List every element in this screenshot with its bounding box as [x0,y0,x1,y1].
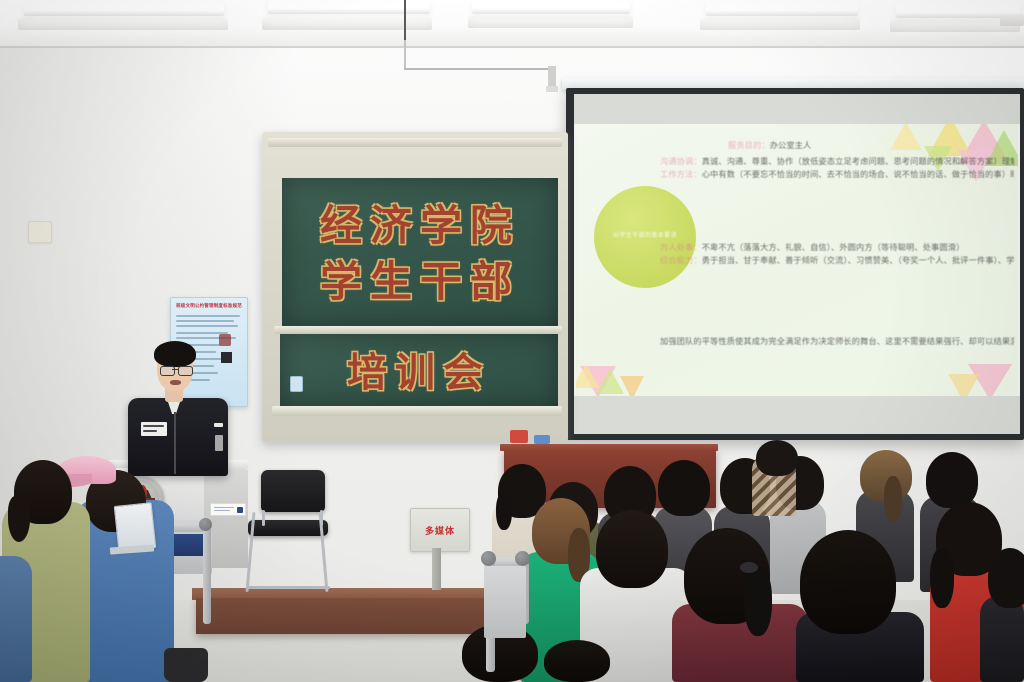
ceiling-seam [0,46,1024,48]
stage-chair-backrest[interactable] [261,470,325,512]
hair-tie [740,562,758,573]
slide-line-1: 沟通协调：真诚、沟通、尊重、协作（放低姿态立足考虑问题、思考问题的情况和解答方案… [634,156,1014,169]
slide-line-1-head: 沟通协调： [660,157,702,166]
light-hood-3 [468,16,633,28]
blackboard-bottom-rail [272,406,562,416]
speaker-glasses-left [160,366,175,376]
slide-line-4-body: 勇于担当、甘于奉献、善于倾听（交流）、习惯赞美、（夸奖一个人、批评一件事）、学会… [702,256,1014,265]
poster-text-row [176,320,234,322]
projection-screen-surface: 对学生干部的基本要求 服务目的：办公室主人 沟通协调：真诚、沟通、尊重、协作（放… [574,94,1020,434]
slide-line-3-body: 不卑不亢（落落大方、礼貌、自信）、外圆内方（等待聪明、处事圆滑） [702,243,965,252]
seat-knob-center-1 [481,551,496,566]
plate-text-line [214,507,234,508]
speaker-torso [128,398,228,476]
speaker-glasses-right [178,366,193,376]
speaker-hair [154,341,196,367]
slide-line-3: 为人处事：不卑不亢（落落大方、礼貌、自信）、外圆内方（等待聪明、处事圆滑） [634,242,1014,255]
screen-drop-cable [404,40,406,68]
person-cream-top-ponytail [496,492,512,530]
plate-logo [237,507,243,513]
person-right-edge-torso [980,596,1024,682]
multimedia-sign-post [432,548,441,590]
blackboard-line-2: 学生干部 [282,248,558,309]
slide-line-1-body: 真诚、沟通、尊重、协作（放低姿态立足考虑问题、思考问题的情况和解答方案）理解（执… [702,157,1014,166]
chalk-box-blue [534,435,550,444]
screen-top-band [574,94,1020,124]
seat-knob-center-2 [515,551,530,566]
speaker-sleeve-stripe [214,423,223,427]
ceiling-light-4 [706,2,858,16]
person-foreground-hair-2 [544,640,610,682]
ceiling-cable [404,0,406,40]
backpack-on-floor [164,648,208,682]
person-leopard-hair [756,440,798,476]
light-hood-1 [18,18,228,30]
slide-line-2-head: 工作方法： [660,170,702,179]
slide-line-4: 综合能力：勇于担当、甘于奉献、善于倾听（交流）、习惯赞美、（夸奖一个人、批评一件… [634,255,1014,268]
person-left-edge-torso [0,556,32,682]
stage-chair-leg-front [246,586,330,589]
person-black-jacket-hair [800,530,896,634]
blackboard-sticker [290,376,303,392]
person-row2-edge-hair [926,452,978,508]
seat-back-center[interactable] [484,566,526,638]
blackboard-line-1: 经济学院 [282,192,558,253]
slide-line-2: 工作方法：心中有数（不要忘不恰当的时间、去不恰当的场合、说不恰当的话、做于恰当的… [634,169,1014,182]
chalk-box-red [510,430,528,443]
slide-line-5-body: 加强团队的平等性质使其成为完全满足作为决定师长的舞台、这里不需要结果强行、却可以… [660,337,1014,346]
lecture-hall-photo: 对学生干部的基本要求 服务目的：办公室主人 沟通协调：真诚、沟通、尊重、协作（放… [0,0,1024,682]
decor-triangle-12 [948,374,980,396]
speaker-sleeve-stripe-2 [215,435,223,451]
person-maroon-ponytail [744,566,772,636]
projector-mount [548,66,556,88]
slide-circle-label: 对学生干部的基本要求 [607,233,683,240]
multimedia-sign-label: 多媒体 [425,524,455,537]
stage-chair-frame-bar [262,510,265,526]
stage-platform-face [196,598,488,634]
poster-title: 班级文明公约管理制度标准规范 [171,303,247,309]
projector-arm-horizontal [404,68,552,70]
person-red-jacket-ponytail [930,548,954,608]
seat-post-left-2 [203,528,211,624]
wall-outlet[interactable] [28,221,52,243]
poster-qr-icon [221,352,232,363]
projector-bracket [546,86,558,92]
person-row2-dark2-hair [658,460,710,516]
slide-text-block-3: 为人处事：不卑不亢（落落大方、礼貌、自信）、外圆内方（等待聪明、处事圆滑） 综合… [634,242,1014,267]
slide-line-2-body: 心中有数（不要忘不恰当的时间、去不恰当的场合、说不恰当的话、做于恰当的事）眼中有… [702,170,1014,179]
speaker-mouth [170,380,181,385]
person-brown-ponytail [884,476,902,522]
speaker-glasses-bridge [172,369,179,370]
seat-knob-left-2 [199,518,212,531]
light-hood-2 [262,18,432,30]
speaker-jacket-zip [174,412,176,474]
ceiling-light-3 [472,0,630,14]
slide-line-0-body: 办公室主人 [770,141,812,150]
slide-line-0: 服务目的：办公室主人 [702,140,1008,153]
stage-chair-frame-bar-2 [320,510,323,526]
speaker-chest-patch [141,422,167,436]
screen-bottom-band [574,396,1020,434]
poster-text-row [176,325,238,327]
blackboard-line-3: 培训会 [280,340,558,398]
slide-text-block: 服务目的：办公室主人 [702,140,1008,153]
blackboard-mid-rail [274,326,562,334]
ceiling-light-1 [24,2,224,16]
slide-text-block-4: 加强团队的平等性质使其成为完全满足作为决定师长的舞台、这里不需要结果强行、却可以… [634,336,1014,349]
person-white-hoodie-hair [596,510,668,588]
slide-line-4-head: 综合能力： [660,256,702,265]
patch-text-line [143,425,164,427]
slide-text-block-2: 沟通协调：真诚、沟通、尊重、协作（放低姿态立足考虑问题、思考问题的情况和解答方案… [634,156,1014,181]
light-hood-4 [700,18,860,30]
person-right-edge-hair [988,548,1024,608]
slide-line-0-head: 服务目的： [728,141,770,150]
multimedia-sign: 多媒体 [410,508,470,552]
slide-accent-circle: 对学生干部的基本要求 [594,186,696,288]
slide-line-5: 加强团队的平等性质使其成为完全满足作为决定师长的舞台、这里不需要结果强行、却可以… [634,336,1014,349]
poster-seal-icon [219,334,231,346]
decor-triangle-9 [576,364,600,388]
presentation-slide: 对学生干部的基本要求 服务目的：办公室主人 沟通协调：真诚、沟通、尊重、协作（放… [576,124,1018,396]
patch-text-line [143,430,157,432]
person-olive-jacket-ponytail [8,496,30,542]
stage-chair-seat[interactable] [248,520,328,536]
blackboard-top-rail [268,138,562,147]
slide-line-3-head: 为人处事： [660,243,702,252]
podium-name-plate [210,503,246,516]
decor-triangle-10 [620,376,644,396]
light-hood-6 [1000,14,1024,26]
plate-text-line [214,510,230,511]
poster-text-row [176,315,240,317]
